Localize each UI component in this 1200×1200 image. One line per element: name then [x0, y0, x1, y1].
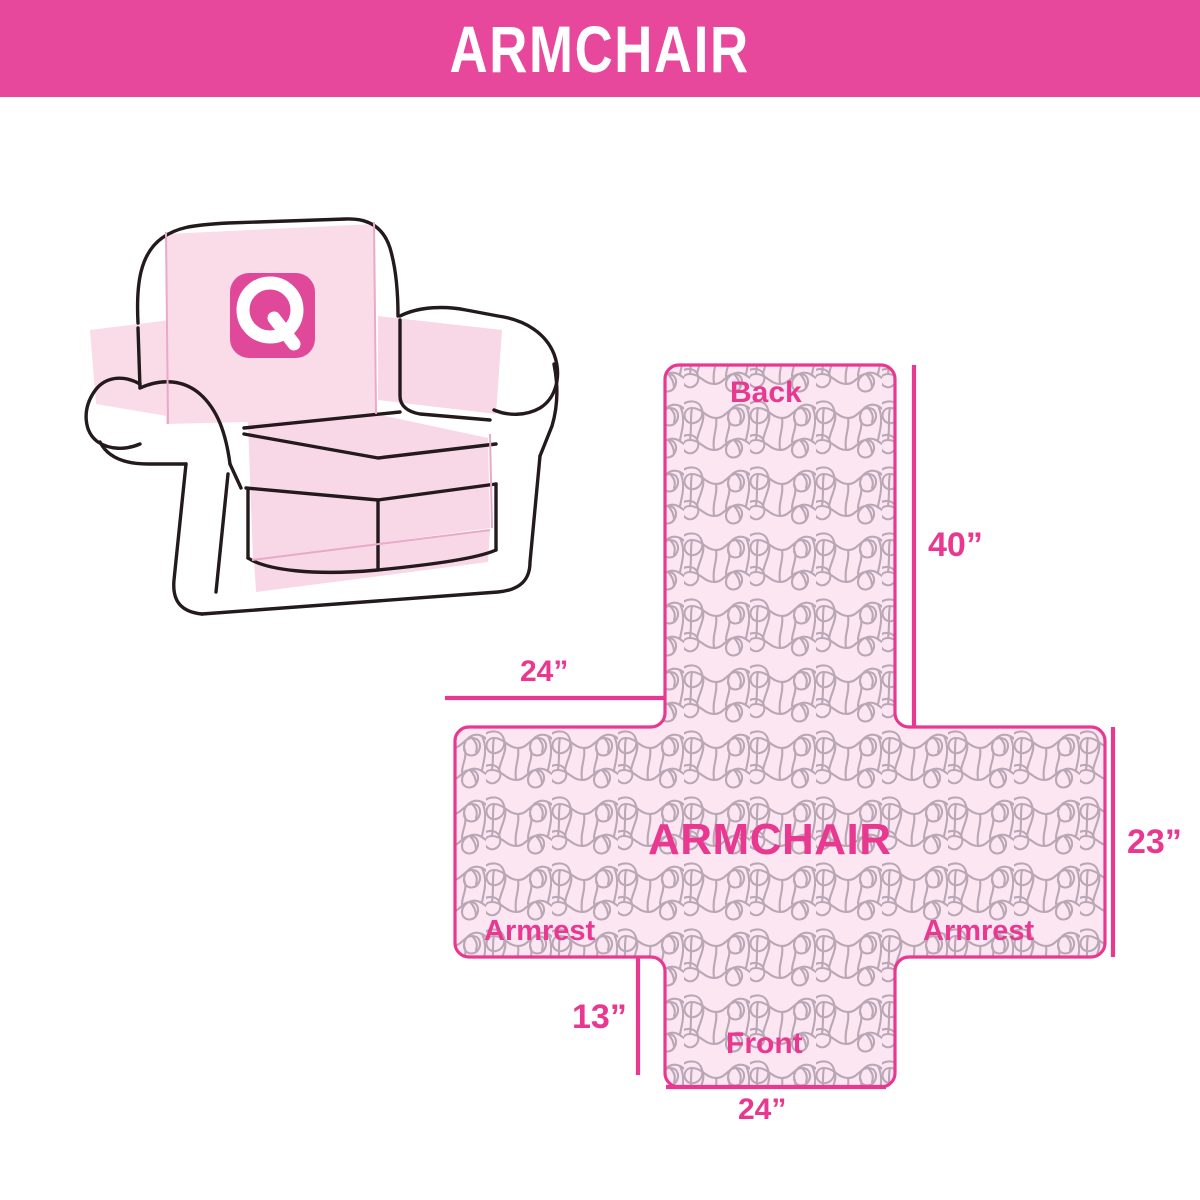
panel-label-back: Back — [730, 378, 802, 408]
cross-pattern-outline — [455, 365, 1105, 1087]
panel-label-armrest-left: Armrest — [484, 917, 595, 946]
pattern-diagram: Back ARMCHAIR Armrest Armrest Front 40” … — [420, 330, 1200, 1140]
dimension-label-armrest-depth: 23” — [1127, 825, 1182, 859]
page-title: ARMCHAIR — [450, 16, 750, 82]
dimension-label-back-height: 40” — [928, 528, 983, 562]
panel-label-armrest-right: Armrest — [923, 917, 1034, 946]
dimension-label-top-width: 24” — [520, 657, 568, 687]
dimension-label-front-height: 13” — [572, 1000, 627, 1034]
brand-logo — [230, 273, 315, 358]
header-banner: ARMCHAIR — [0, 0, 1200, 97]
dimension-label-bottom-width: 24” — [738, 1095, 786, 1125]
size-chart-page: ARMCHAIR — [0, 0, 1200, 1200]
panel-label-center: ARMCHAIR — [648, 818, 892, 862]
panel-label-front: Front — [726, 1029, 803, 1059]
